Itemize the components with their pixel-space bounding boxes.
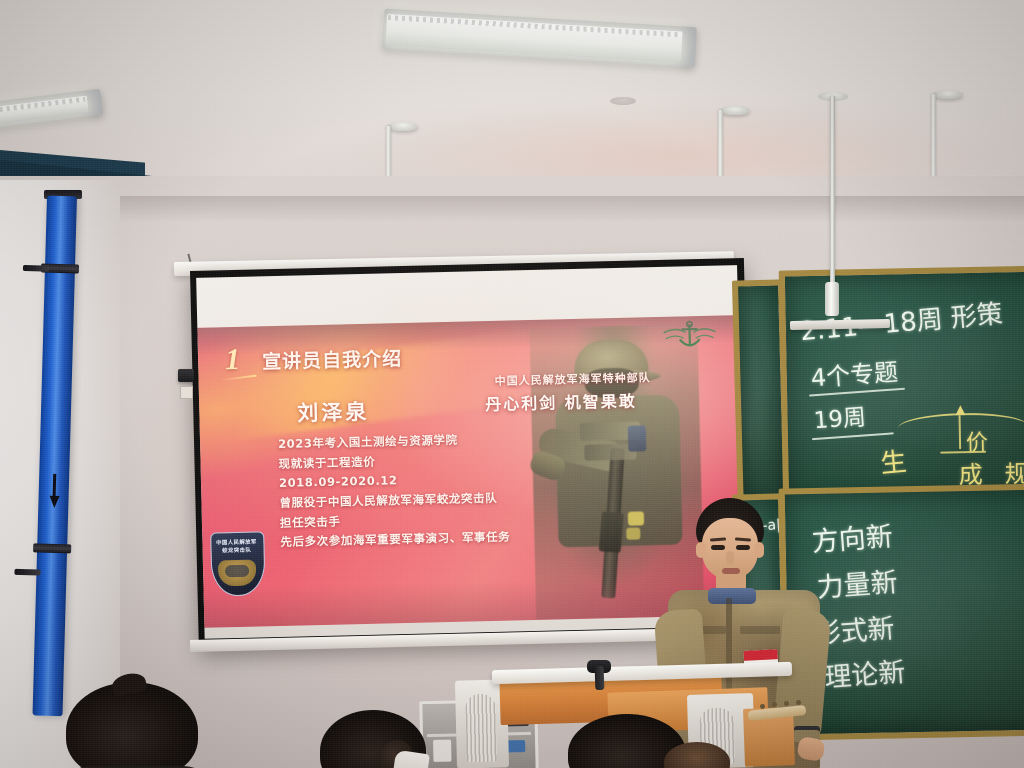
ceiling-rod-cap <box>933 90 963 99</box>
slide-section-number: 1 <box>225 343 241 377</box>
slide-unit-motto: 丹心利剑 机智果敢 <box>485 388 637 416</box>
slide-speaker-name: 刘泽泉 <box>297 396 370 428</box>
podium-knob[interactable] <box>796 700 801 705</box>
presenter-uniform-pocket <box>740 626 780 634</box>
chalk-line-2: 4个专题 <box>810 352 900 393</box>
chalk-up-arrow-icon <box>955 405 965 415</box>
shield-text: 中国人民解放军 蛟龙突击队 <box>215 538 257 555</box>
slide-section-title: 宣讲员自我介绍 <box>262 344 403 374</box>
presenter-nose <box>726 551 734 565</box>
wall-shadow-band <box>120 196 1024 222</box>
podium-speaker-grille <box>465 694 497 763</box>
chalk-formula-sheng: 生 <box>879 441 908 480</box>
ceiling-vent <box>610 97 636 105</box>
soldier-radio-pouch <box>628 425 647 451</box>
presenter-undershirt-collar <box>708 588 756 604</box>
podium-knob[interactable] <box>784 701 789 706</box>
projector-mount-head <box>825 282 839 316</box>
projector-mount-pole <box>830 96 835 286</box>
shield-text-line2: 蛟龙突击队 <box>216 547 258 556</box>
slide-bullet: 曾服役于中国人民解放军海军蛟龙突击队 <box>279 490 579 510</box>
soldier-ammo <box>628 511 644 525</box>
classroom-photo: 1 宣讲员自我介绍 刘泽泉 2023年考入国土测绘与资源学院 现就读于工程造价 … <box>0 0 1024 768</box>
presenter-eye <box>711 545 725 550</box>
chalk-line-3: 19周 <box>812 398 867 436</box>
ceiling-rod-cap <box>720 106 750 115</box>
ceiling-rod-cap <box>388 122 418 131</box>
slide-bullet: 担任突击手 <box>280 509 580 529</box>
slide-bullet: 2018.09-2020.12 <box>279 470 579 490</box>
podium-knob[interactable] <box>760 704 765 709</box>
projector-control-box[interactable] <box>178 369 194 382</box>
presenter-eye <box>736 545 750 550</box>
slide-bullet-list: 2023年考入国土测绘与资源学院 现就读于工程造价 2018.09-2020.1… <box>278 431 581 556</box>
wall-outlet-plate <box>180 386 193 399</box>
podium-knob[interactable] <box>772 702 777 707</box>
slide-bullet: 现就读于工程造价 <box>278 451 578 471</box>
shield-dragon-shadow <box>225 565 249 578</box>
chalk-bottom-line-4: 理论新 <box>823 650 907 695</box>
soldier-rifle-magazine <box>599 511 624 553</box>
flow-arrow-icon <box>49 496 59 508</box>
pipe-collar <box>33 543 71 553</box>
audience-face-mask <box>392 750 430 768</box>
ceiling-drop-rod <box>931 94 936 182</box>
pipe-bracket <box>14 569 40 576</box>
slide-bullet: 先后多次参加海军重要军事演习、军事任务 <box>280 529 580 549</box>
presenter-ear <box>754 542 764 558</box>
presenter-ear <box>696 542 706 558</box>
pipe-bracket <box>23 265 49 272</box>
soldier-ammo <box>626 527 640 539</box>
microphone-stem[interactable] <box>595 666 605 690</box>
chalkboard-panel-top-right: 2.11—18周 形策 4个专题 19周 价 生 成 规 <box>779 265 1024 512</box>
unit-shield-emblem: 中国人民解放军 蛟龙突击队 <box>210 531 263 596</box>
